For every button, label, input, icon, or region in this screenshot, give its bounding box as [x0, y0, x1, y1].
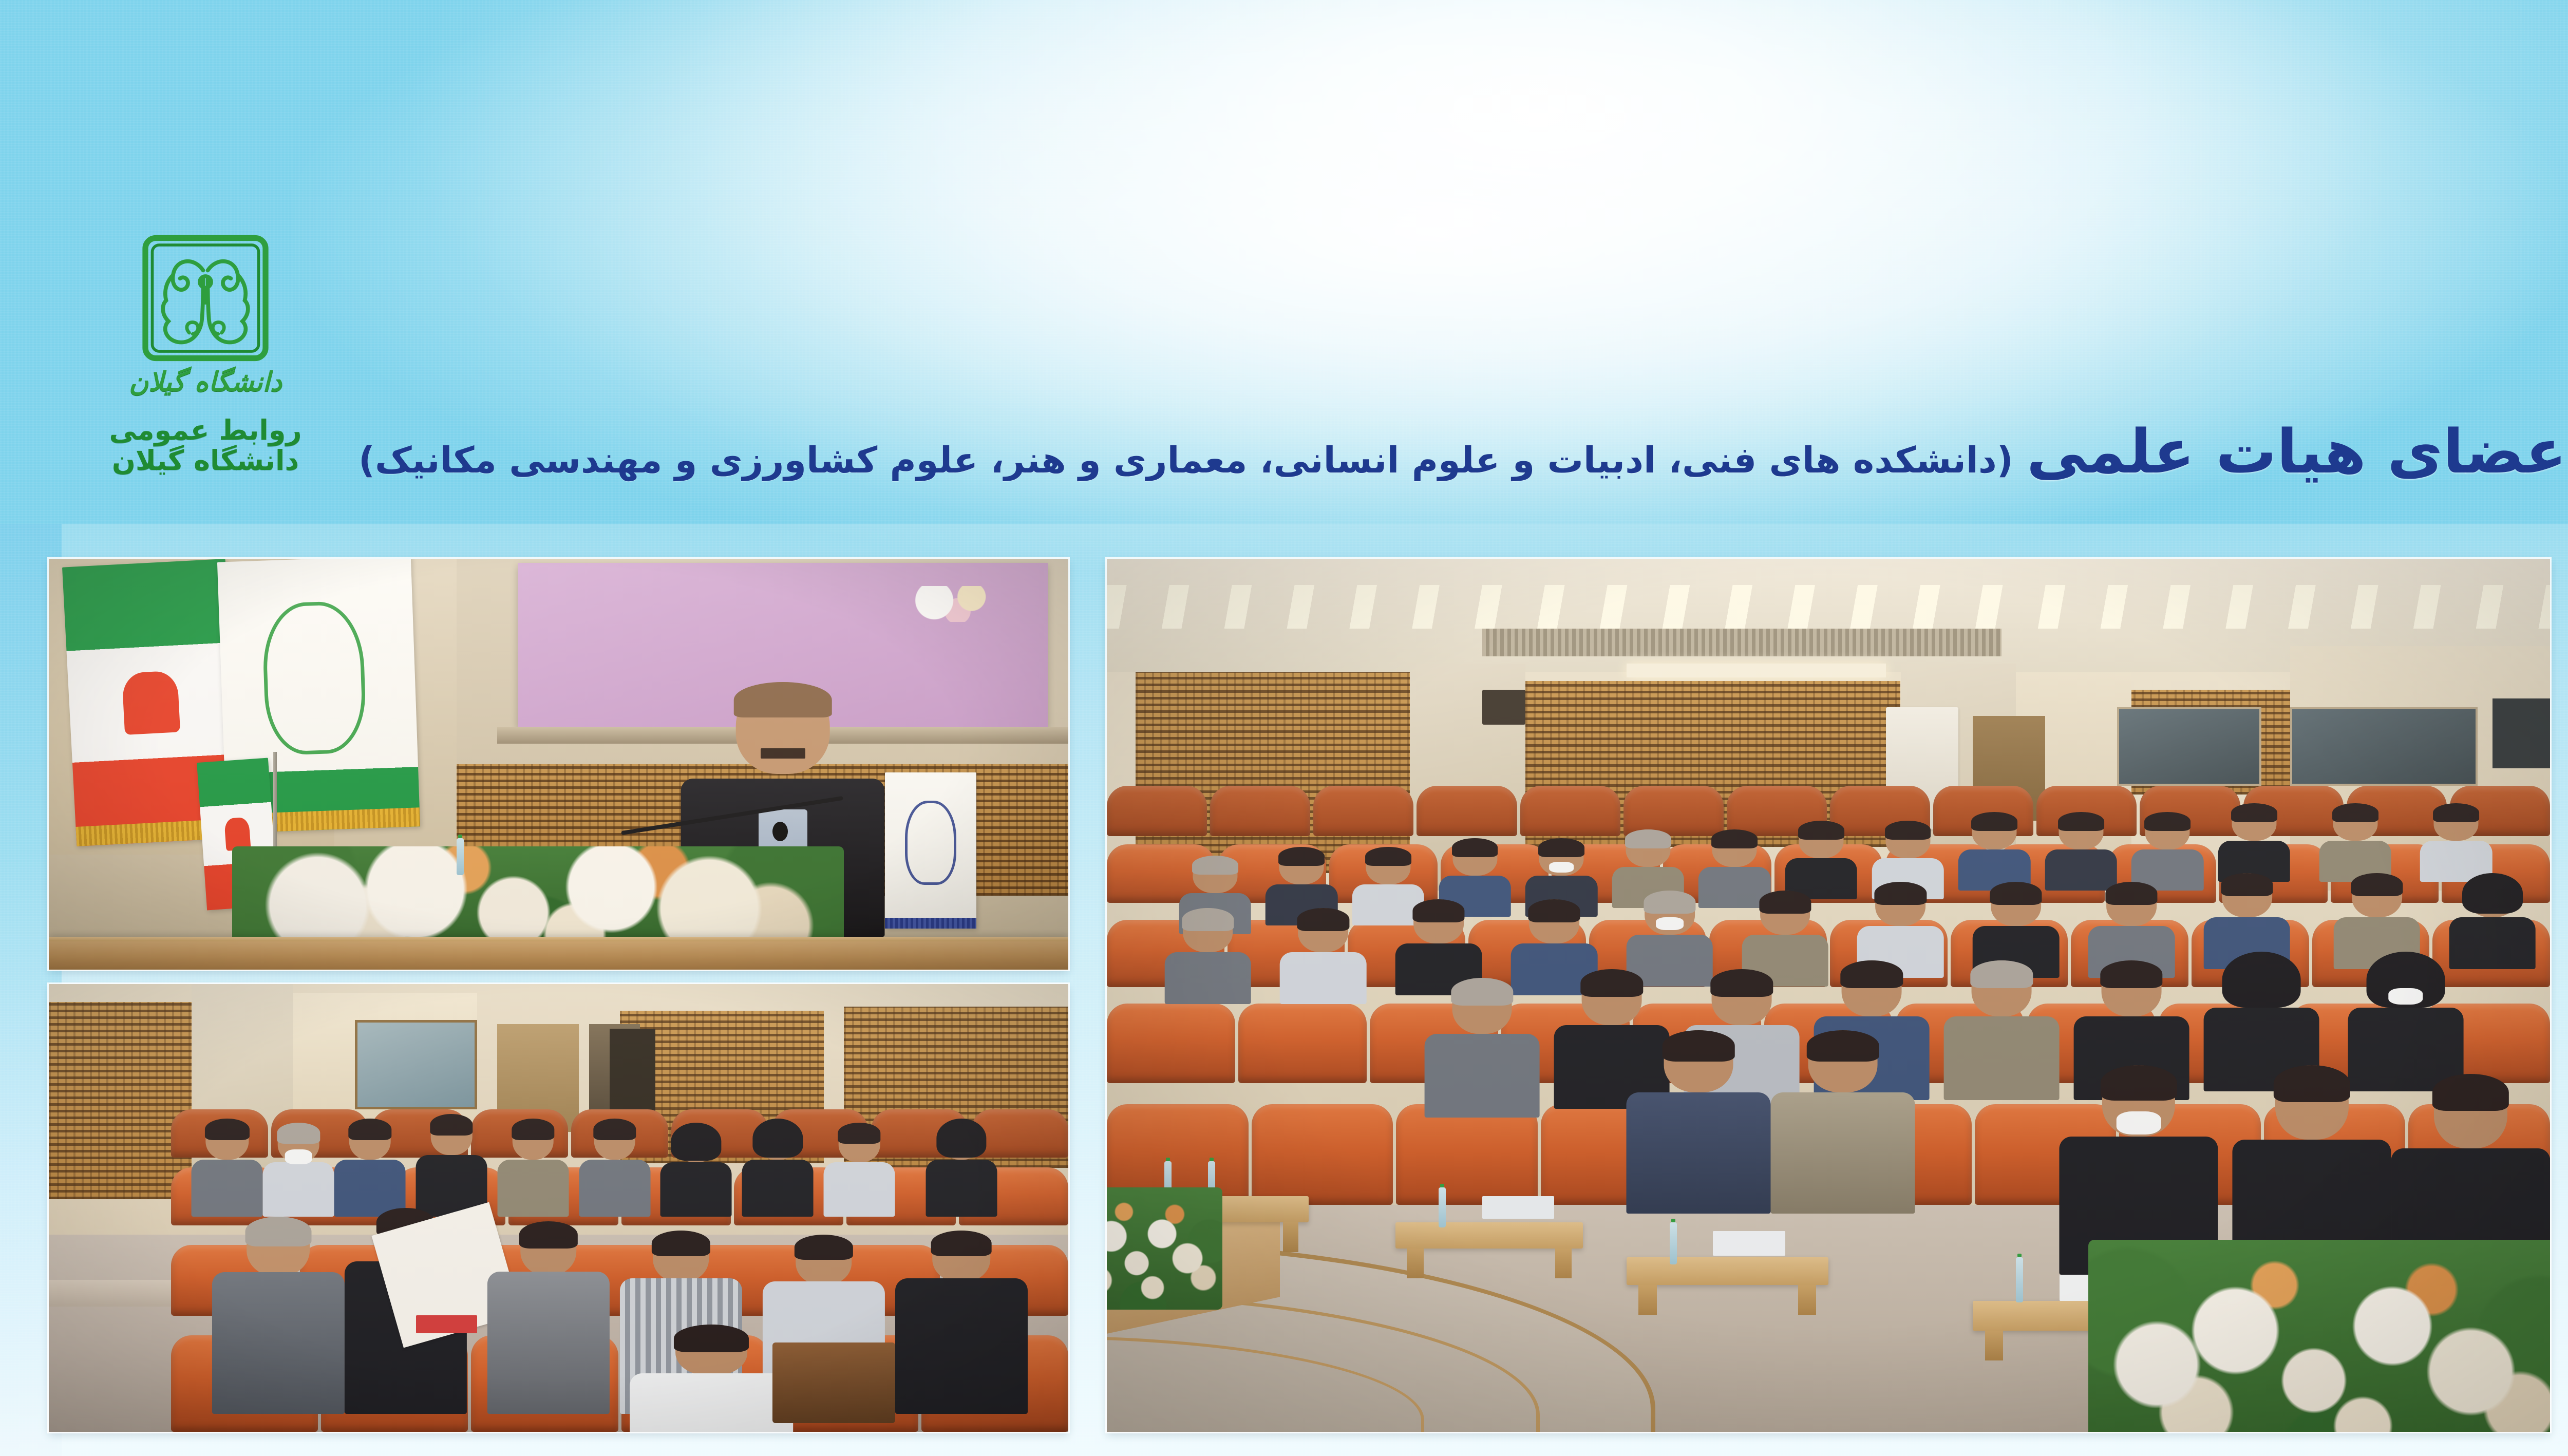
photo-top-left[interactable] [49, 559, 1068, 970]
page-title: نشست هم اندیشی رئیس دانشگاه با اعضای هیا… [2027, 421, 2568, 482]
logo-script-label: دانشگاه گیلان [62, 367, 349, 398]
photo-bottom-left[interactable] [49, 984, 1068, 1432]
page-subtitle: (دانشکده های فنی، ادبیات و علوم انسانی، … [358, 442, 2013, 478]
logo-block: دانشگاه گیلان روابط عمومی دانشگاه گیلان [62, 231, 349, 476]
photo-bottom-left-scene [49, 984, 1068, 1432]
university-of-guilan-emblem-icon [136, 231, 275, 370]
gallery-column-center [1107, 559, 2550, 1432]
photo-top-left-scene [49, 559, 1068, 970]
photo-center-scene [1107, 559, 2550, 1432]
logo-caption: روابط عمومی دانشگاه گیلان [62, 415, 349, 476]
banner-header: دانشگاه گیلان روابط عمومی دانشگاه گیلان … [0, 0, 2568, 524]
gallery-column-left [49, 559, 1068, 1432]
banner-title-row: نشست هم اندیشی رئیس دانشگاه با اعضای هیا… [358, 421, 2568, 482]
photo-gallery [49, 559, 2568, 1432]
photo-center[interactable] [1107, 559, 2550, 1432]
